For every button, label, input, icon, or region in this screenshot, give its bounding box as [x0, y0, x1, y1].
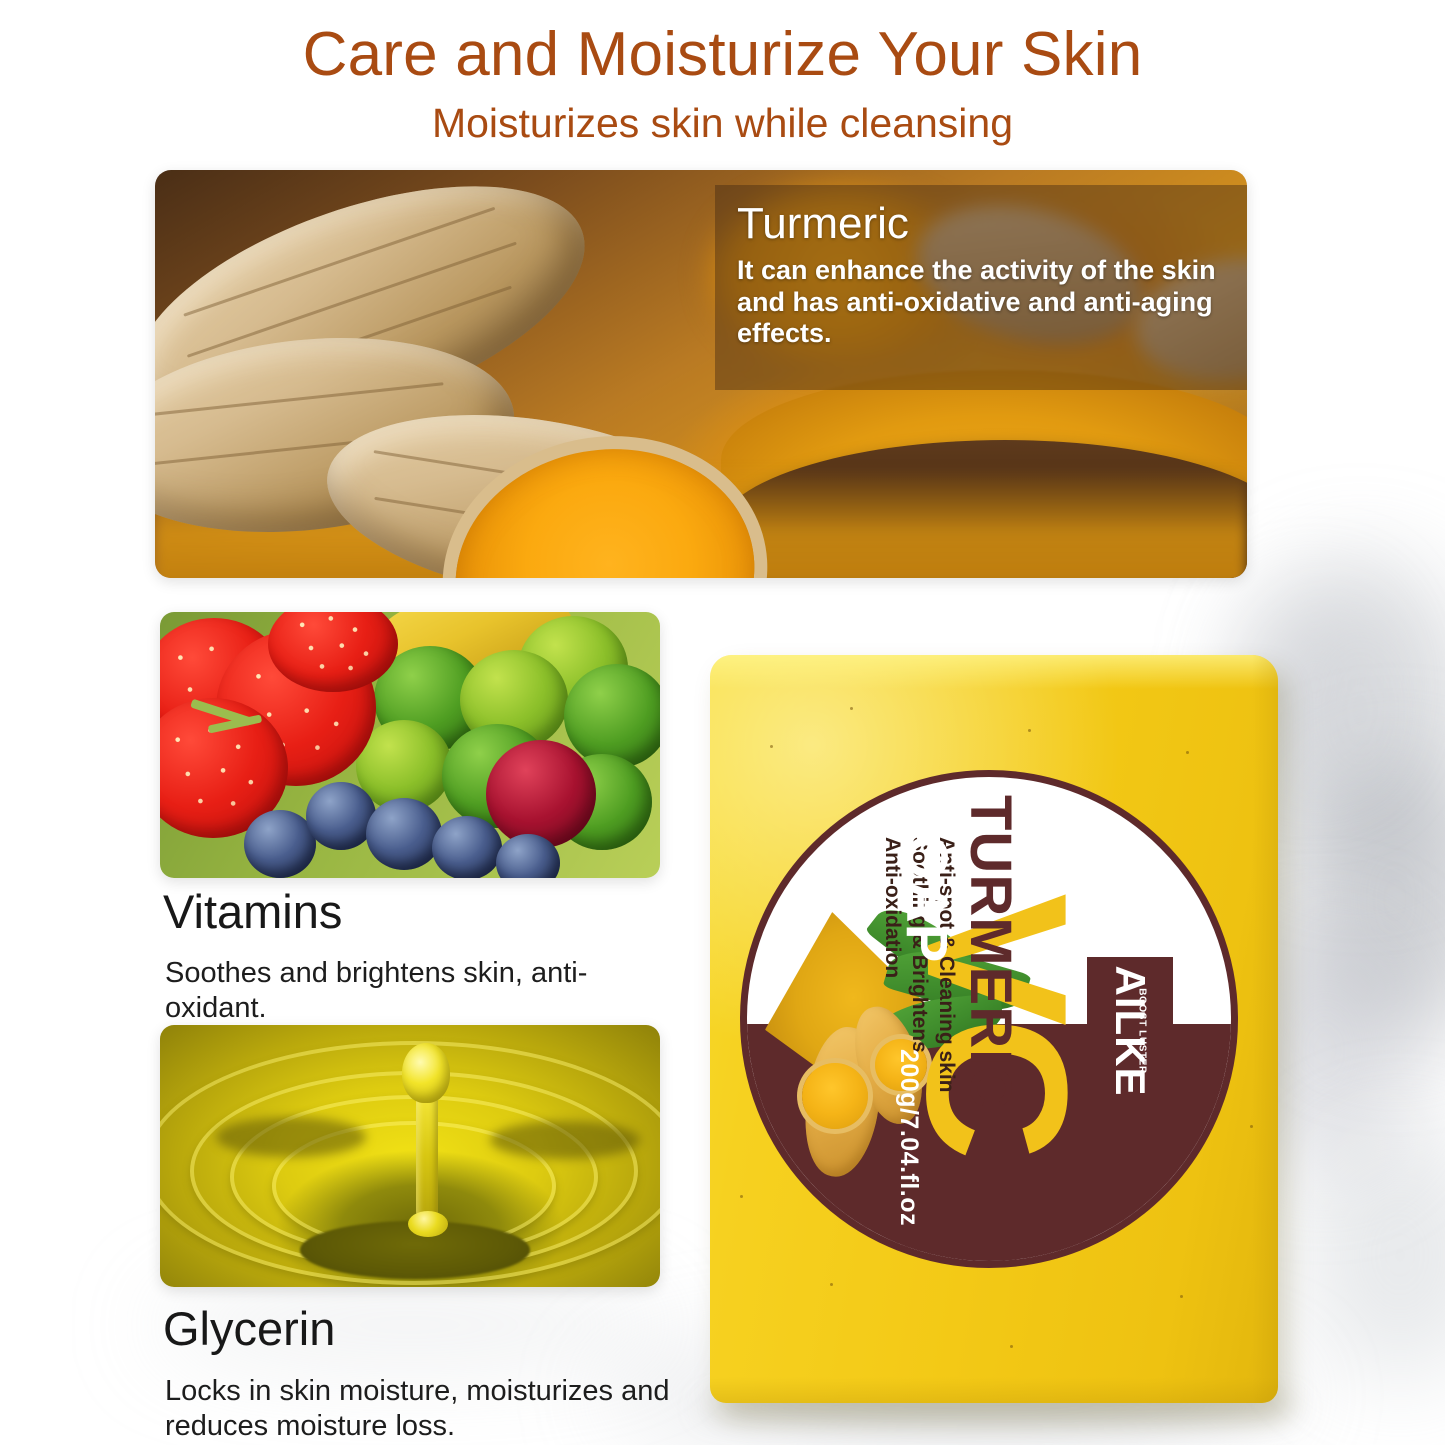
page-title: Care and Moisturize Your Skin — [0, 22, 1445, 89]
blueberry — [366, 798, 442, 870]
oil-droplet — [402, 1043, 450, 1103]
lime — [564, 664, 660, 768]
turmeric-overlay-description: It can enhance the activity of the skin … — [737, 255, 1227, 350]
soap-right-edge — [1252, 655, 1278, 1403]
label-net-weight: 200g/7.04.fl.oz — [894, 1049, 923, 1226]
vitamins-fruits-image — [160, 612, 660, 878]
glycerin-description: Locks in skin moisture, moisturizes and … — [165, 1374, 685, 1444]
turmeric-root-cut-graphic — [802, 1063, 868, 1129]
glycerin-oil-image — [160, 1025, 660, 1287]
oil-droplet-column — [416, 1091, 438, 1221]
soap-product-label: VC Anti-spot & Cleaning skin Soothing & … — [740, 770, 1238, 1268]
vitamins-description: Soothes and brightens skin, anti-oxidant… — [165, 956, 685, 1026]
oil-shadow — [490, 1121, 640, 1159]
turmeric-info-overlay: Turmeric It can enhance the activity of … — [715, 185, 1247, 390]
blueberry — [244, 810, 316, 878]
soap-top-highlight — [710, 655, 1278, 689]
glycerin-title: Glycerin — [163, 1305, 335, 1352]
vitamins-title: Vitamins — [163, 888, 342, 935]
label-product-name: TURMERIC — [961, 795, 1019, 1255]
turmeric-banner-image: Turmeric It can enhance the activity of … — [155, 170, 1247, 578]
brand-badge: AILKE BOOST LUSTER — [1087, 957, 1173, 1105]
turmeric-overlay-title: Turmeric — [737, 201, 1227, 247]
cherry — [486, 740, 596, 848]
oil-shadow — [216, 1117, 366, 1157]
page-subtitle: Moisturizes skin while cleansing — [0, 101, 1445, 146]
soap-bottom-edge — [710, 1377, 1278, 1403]
blueberry — [432, 816, 502, 878]
product-infographic-page: Care and Moisturize Your Skin Moisturize… — [0, 0, 1445, 1445]
header-block: Care and Moisturize Your Skin Moisturize… — [0, 22, 1445, 146]
brand-tagline: BOOST LUSTER — [1136, 988, 1147, 1074]
oil-droplet-base — [408, 1211, 448, 1237]
